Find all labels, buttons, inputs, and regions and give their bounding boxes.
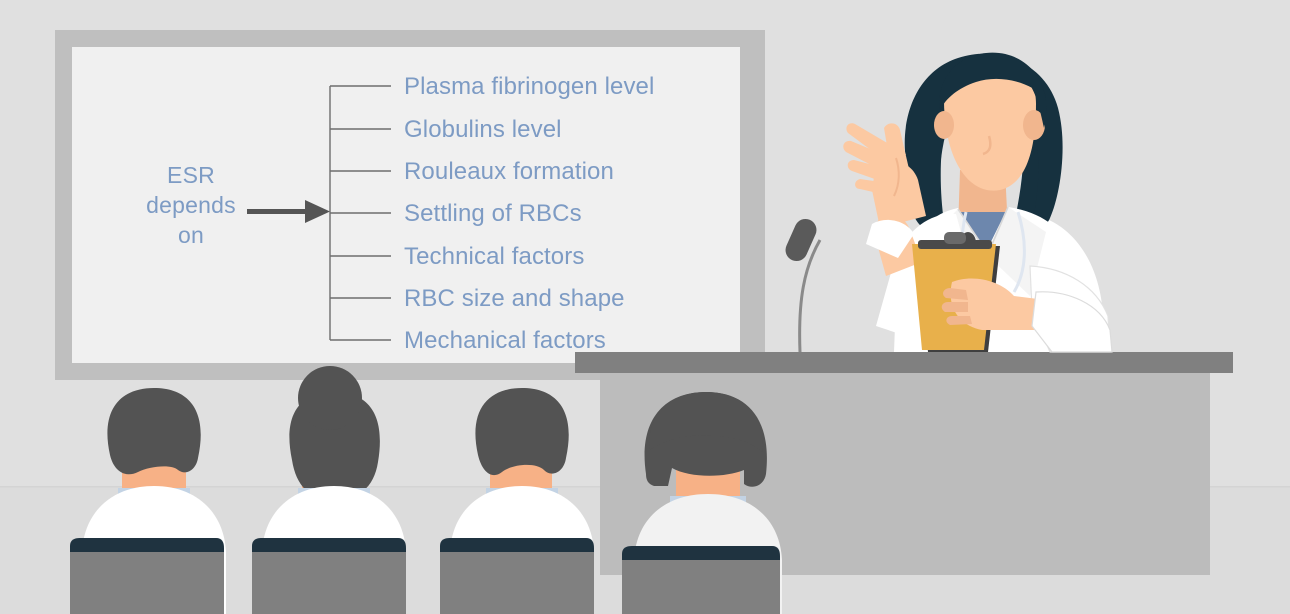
audience-1-seat-face [70, 552, 224, 614]
audience-3-seat-face [440, 552, 594, 614]
whiteboard-surface [72, 47, 740, 363]
lecture-scene: ESR depends on Plasma fibrinogen level G… [0, 0, 1290, 614]
audience-2-bun [298, 366, 362, 430]
audience-3-hair [475, 388, 568, 475]
podium-top [575, 352, 1233, 373]
audience-4-seat-face [622, 560, 780, 614]
audience-1-hair [107, 388, 200, 474]
scene-artwork [0, 0, 1290, 614]
presenter-ear-left [934, 111, 954, 139]
audience-2-seat-face [252, 552, 406, 614]
